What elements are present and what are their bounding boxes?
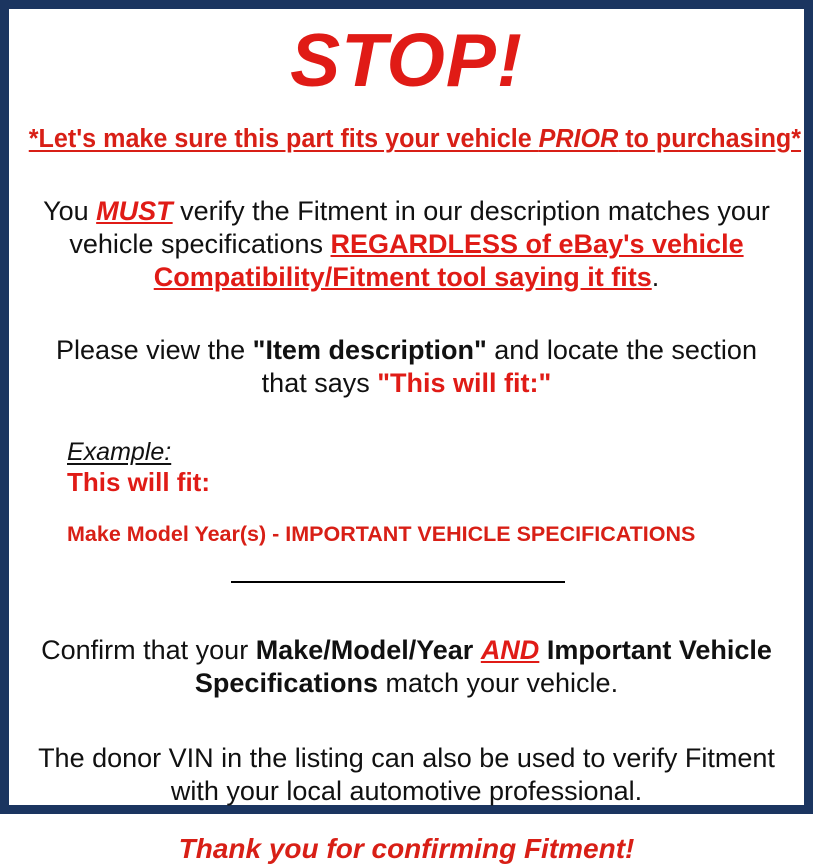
confirm-space1 (473, 635, 481, 665)
example-fit-heading: This will fit: (67, 467, 790, 498)
closing-thank-you: Thank you for confirming Fitment! (23, 834, 790, 865)
paragraph-confirm-match: Confirm that your Make/Model/Year AND Im… (23, 634, 790, 700)
subtitle-banner: *Let's make sure this part fits your veh… (29, 125, 784, 153)
must-text-part3: . (652, 262, 660, 292)
item-description-emphasis: "Item description" (253, 335, 487, 365)
view-text-part1: Please view the (56, 335, 253, 365)
must-text-part1: You (43, 196, 96, 226)
example-spec-line: Make Model Year(s) - IMPORTANT VEHICLE S… (67, 522, 790, 548)
paragraph-view-description: Please view the "Item description" and l… (23, 334, 790, 400)
this-will-fit-emphasis: "This will fit:" (377, 368, 551, 398)
must-emphasis: MUST (96, 196, 173, 226)
make-model-year-emphasis: Make/Model/Year (256, 635, 474, 665)
example-label-row: Example: (67, 438, 790, 467)
subtitle-text-after: to purchasing* (618, 125, 801, 153)
fitment-notice-card: STOP! *Let's make sure this part fits yo… (0, 0, 813, 814)
paragraph-donor-vin: The donor VIN in the listing can also be… (23, 742, 790, 808)
example-block: Example: This will fit: Make Model Year(… (23, 438, 790, 548)
section-divider (231, 581, 565, 583)
example-label: Example: (67, 438, 171, 467)
subtitle-emphasis-prior: PRIOR (539, 125, 619, 153)
confirm-text-part1: Confirm that your (41, 635, 256, 665)
subtitle-text-before: *Let's make sure this part fits your veh… (29, 125, 539, 153)
confirm-text-part4: match your vehicle. (378, 668, 618, 698)
paragraph-must-verify: You MUST verify the Fitment in our descr… (23, 195, 790, 294)
section-divider-wrap (23, 570, 790, 588)
and-emphasis: AND (481, 635, 540, 665)
confirm-space2 (539, 635, 547, 665)
page-title: STOP! (23, 23, 790, 98)
